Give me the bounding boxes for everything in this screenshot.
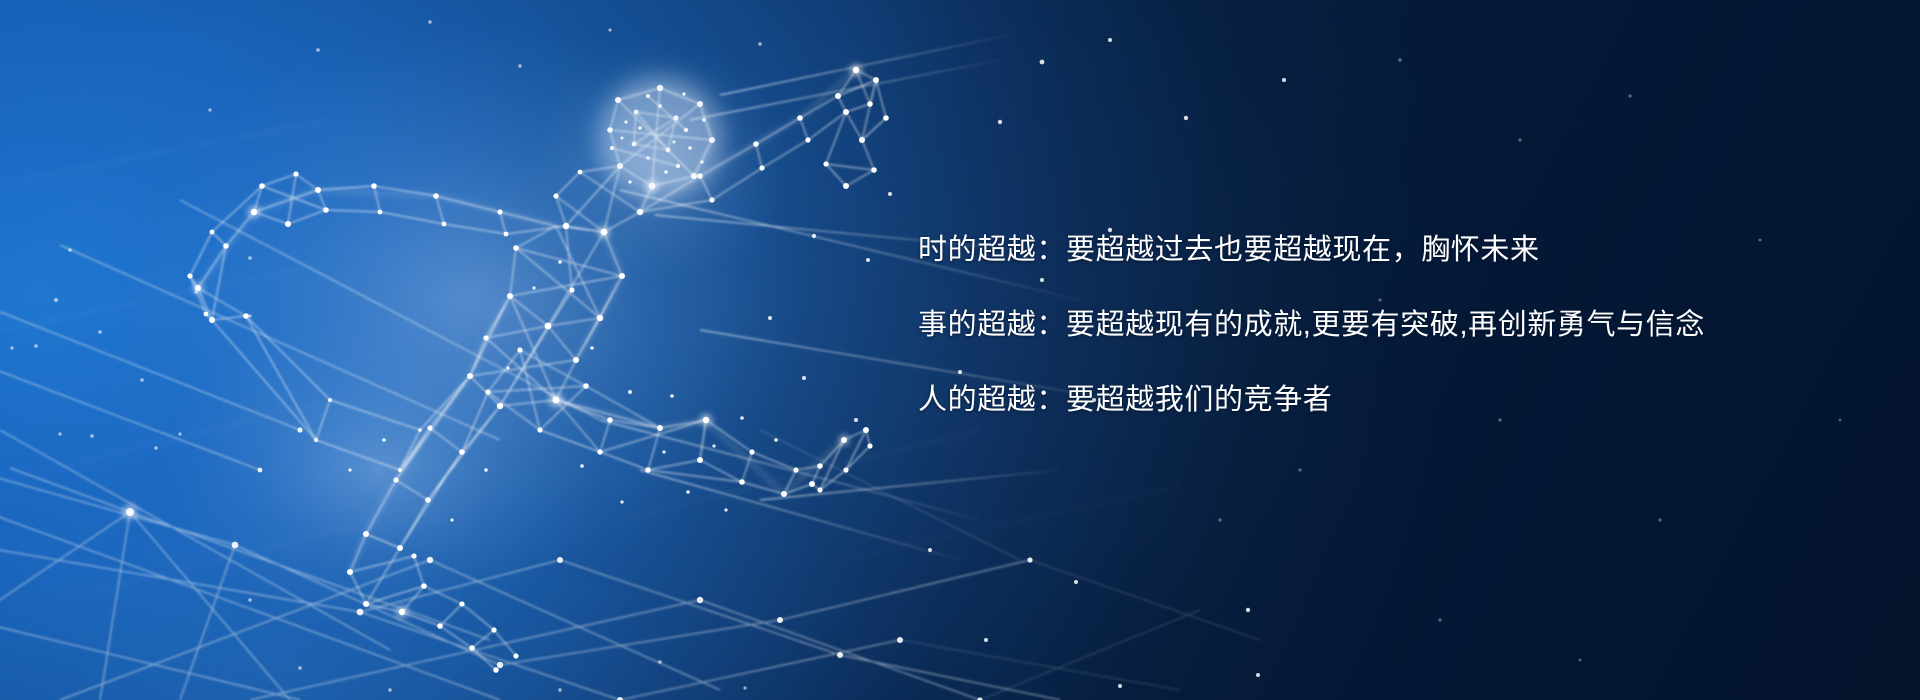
slogan-text-block: 时的超越：要超越过去也要超越现在，胸怀未来 事的超越：要超越现有的成就,更要有突… <box>918 236 1818 415</box>
head-glow <box>598 76 722 200</box>
slogan-line-matter: 事的超越：要超越现有的成就,更要有突破,再创新勇气与信念 <box>918 311 1818 340</box>
hero-banner: 时的超越：要超越过去也要超越现在，胸怀未来 事的超越：要超越现有的成就,更要有突… <box>0 0 1920 700</box>
slogan-line-time: 时的超越：要超越过去也要超越现在，胸怀未来 <box>918 236 1818 265</box>
slogan-line-people: 人的超越：要超越我们的竞争者 <box>918 386 1818 415</box>
